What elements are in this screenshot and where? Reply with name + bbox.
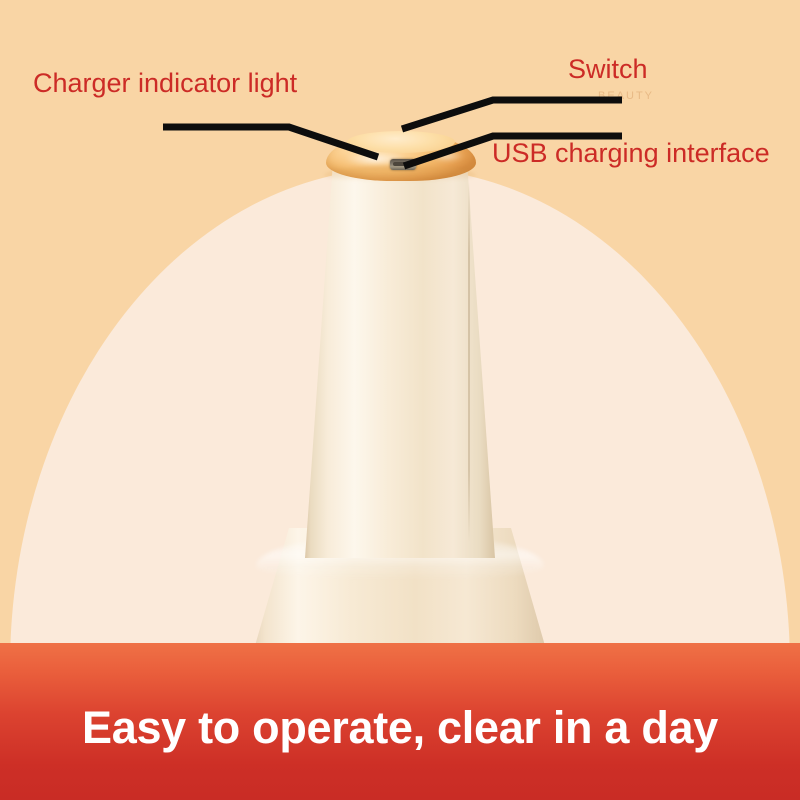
watermark-text: BEAUTY	[598, 90, 654, 102]
product-neck	[305, 168, 495, 558]
banner-headline: Easy to operate, clear in a day	[82, 705, 718, 750]
callout-label-charger-indicator-light: Charger indicator light	[33, 70, 297, 97]
product-neck-seam	[468, 182, 470, 542]
bottom-banner: Easy to operate, clear in a day	[0, 643, 800, 800]
product-cap-highlight-right	[430, 150, 464, 162]
callout-label-switch: Switch	[568, 56, 648, 83]
product-illustration	[0, 0, 800, 660]
usb-port-slot-icon	[393, 162, 413, 166]
product-annotation-image: BEAUTY Charger indicator light Switch US…	[0, 0, 800, 800]
callout-label-usb-charging-interface: USB charging interface	[492, 140, 770, 167]
